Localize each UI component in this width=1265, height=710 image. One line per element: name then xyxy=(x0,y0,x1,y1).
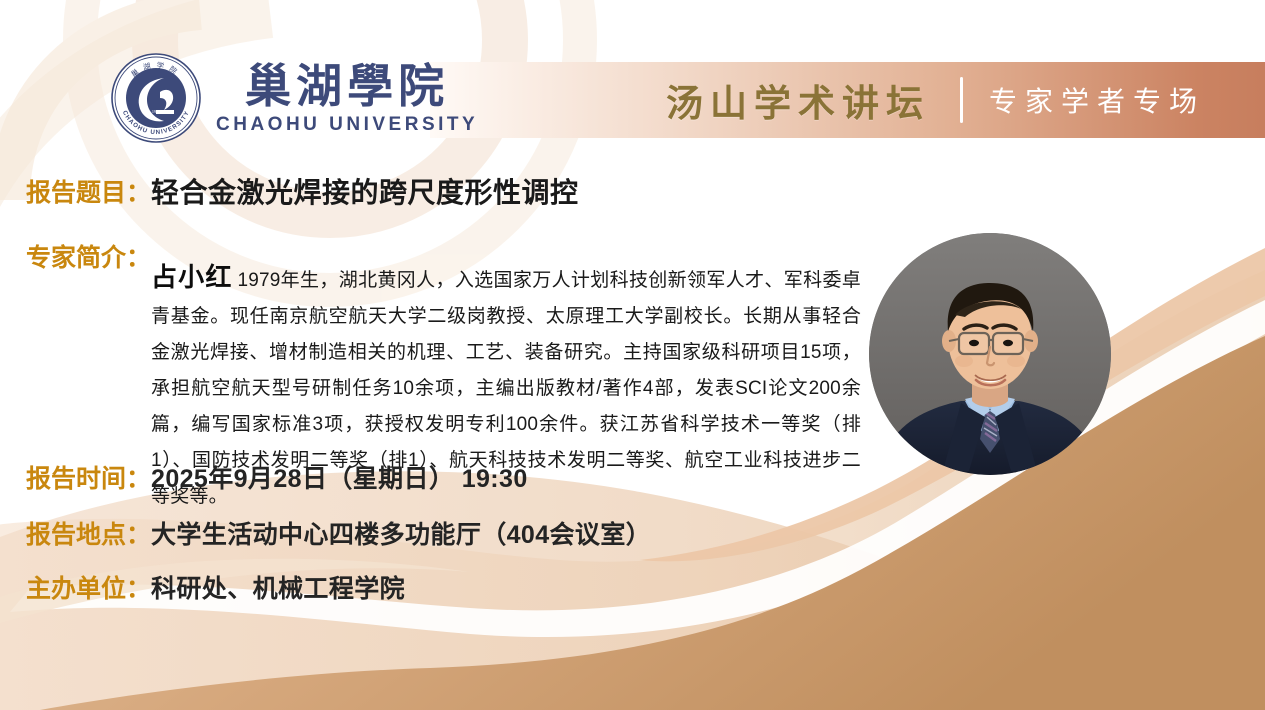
time-label: 报告时间： xyxy=(26,462,151,496)
time-row: 报告时间： 2025年9月28日（星期日） 19:30 xyxy=(26,462,528,496)
place-label: 报告地点： xyxy=(26,518,151,552)
host-value: 科研处、机械工程学院 xyxy=(151,572,405,606)
lecture-title: 轻合金激光焊接的跨尺度形性调控 xyxy=(151,176,579,210)
poster-root: 汤山学术讲坛 专家学者专场 xyxy=(0,0,1265,710)
bio-label: 专家简介： xyxy=(26,240,151,276)
title-label: 报告题目： xyxy=(26,176,151,210)
host-label: 主办单位： xyxy=(26,572,151,606)
host-row: 主办单位： 科研处、机械工程学院 xyxy=(26,572,405,606)
place-value: 大学生活动中心四楼多功能厅（404会议室） xyxy=(151,518,651,552)
speaker-name: 占小红 xyxy=(151,262,232,292)
poster-content: 报告题目： 轻合金激光焊接的跨尺度形性调控 专家简介： 占小红1979年生，湖北… xyxy=(0,0,1265,710)
place-row: 报告地点： 大学生活动中心四楼多功能厅（404会议室） xyxy=(26,518,651,552)
time-value: 2025年9月28日（星期日） 19:30 xyxy=(151,462,528,496)
title-row: 报告题目： 轻合金激光焊接的跨尺度形性调控 xyxy=(26,176,579,210)
